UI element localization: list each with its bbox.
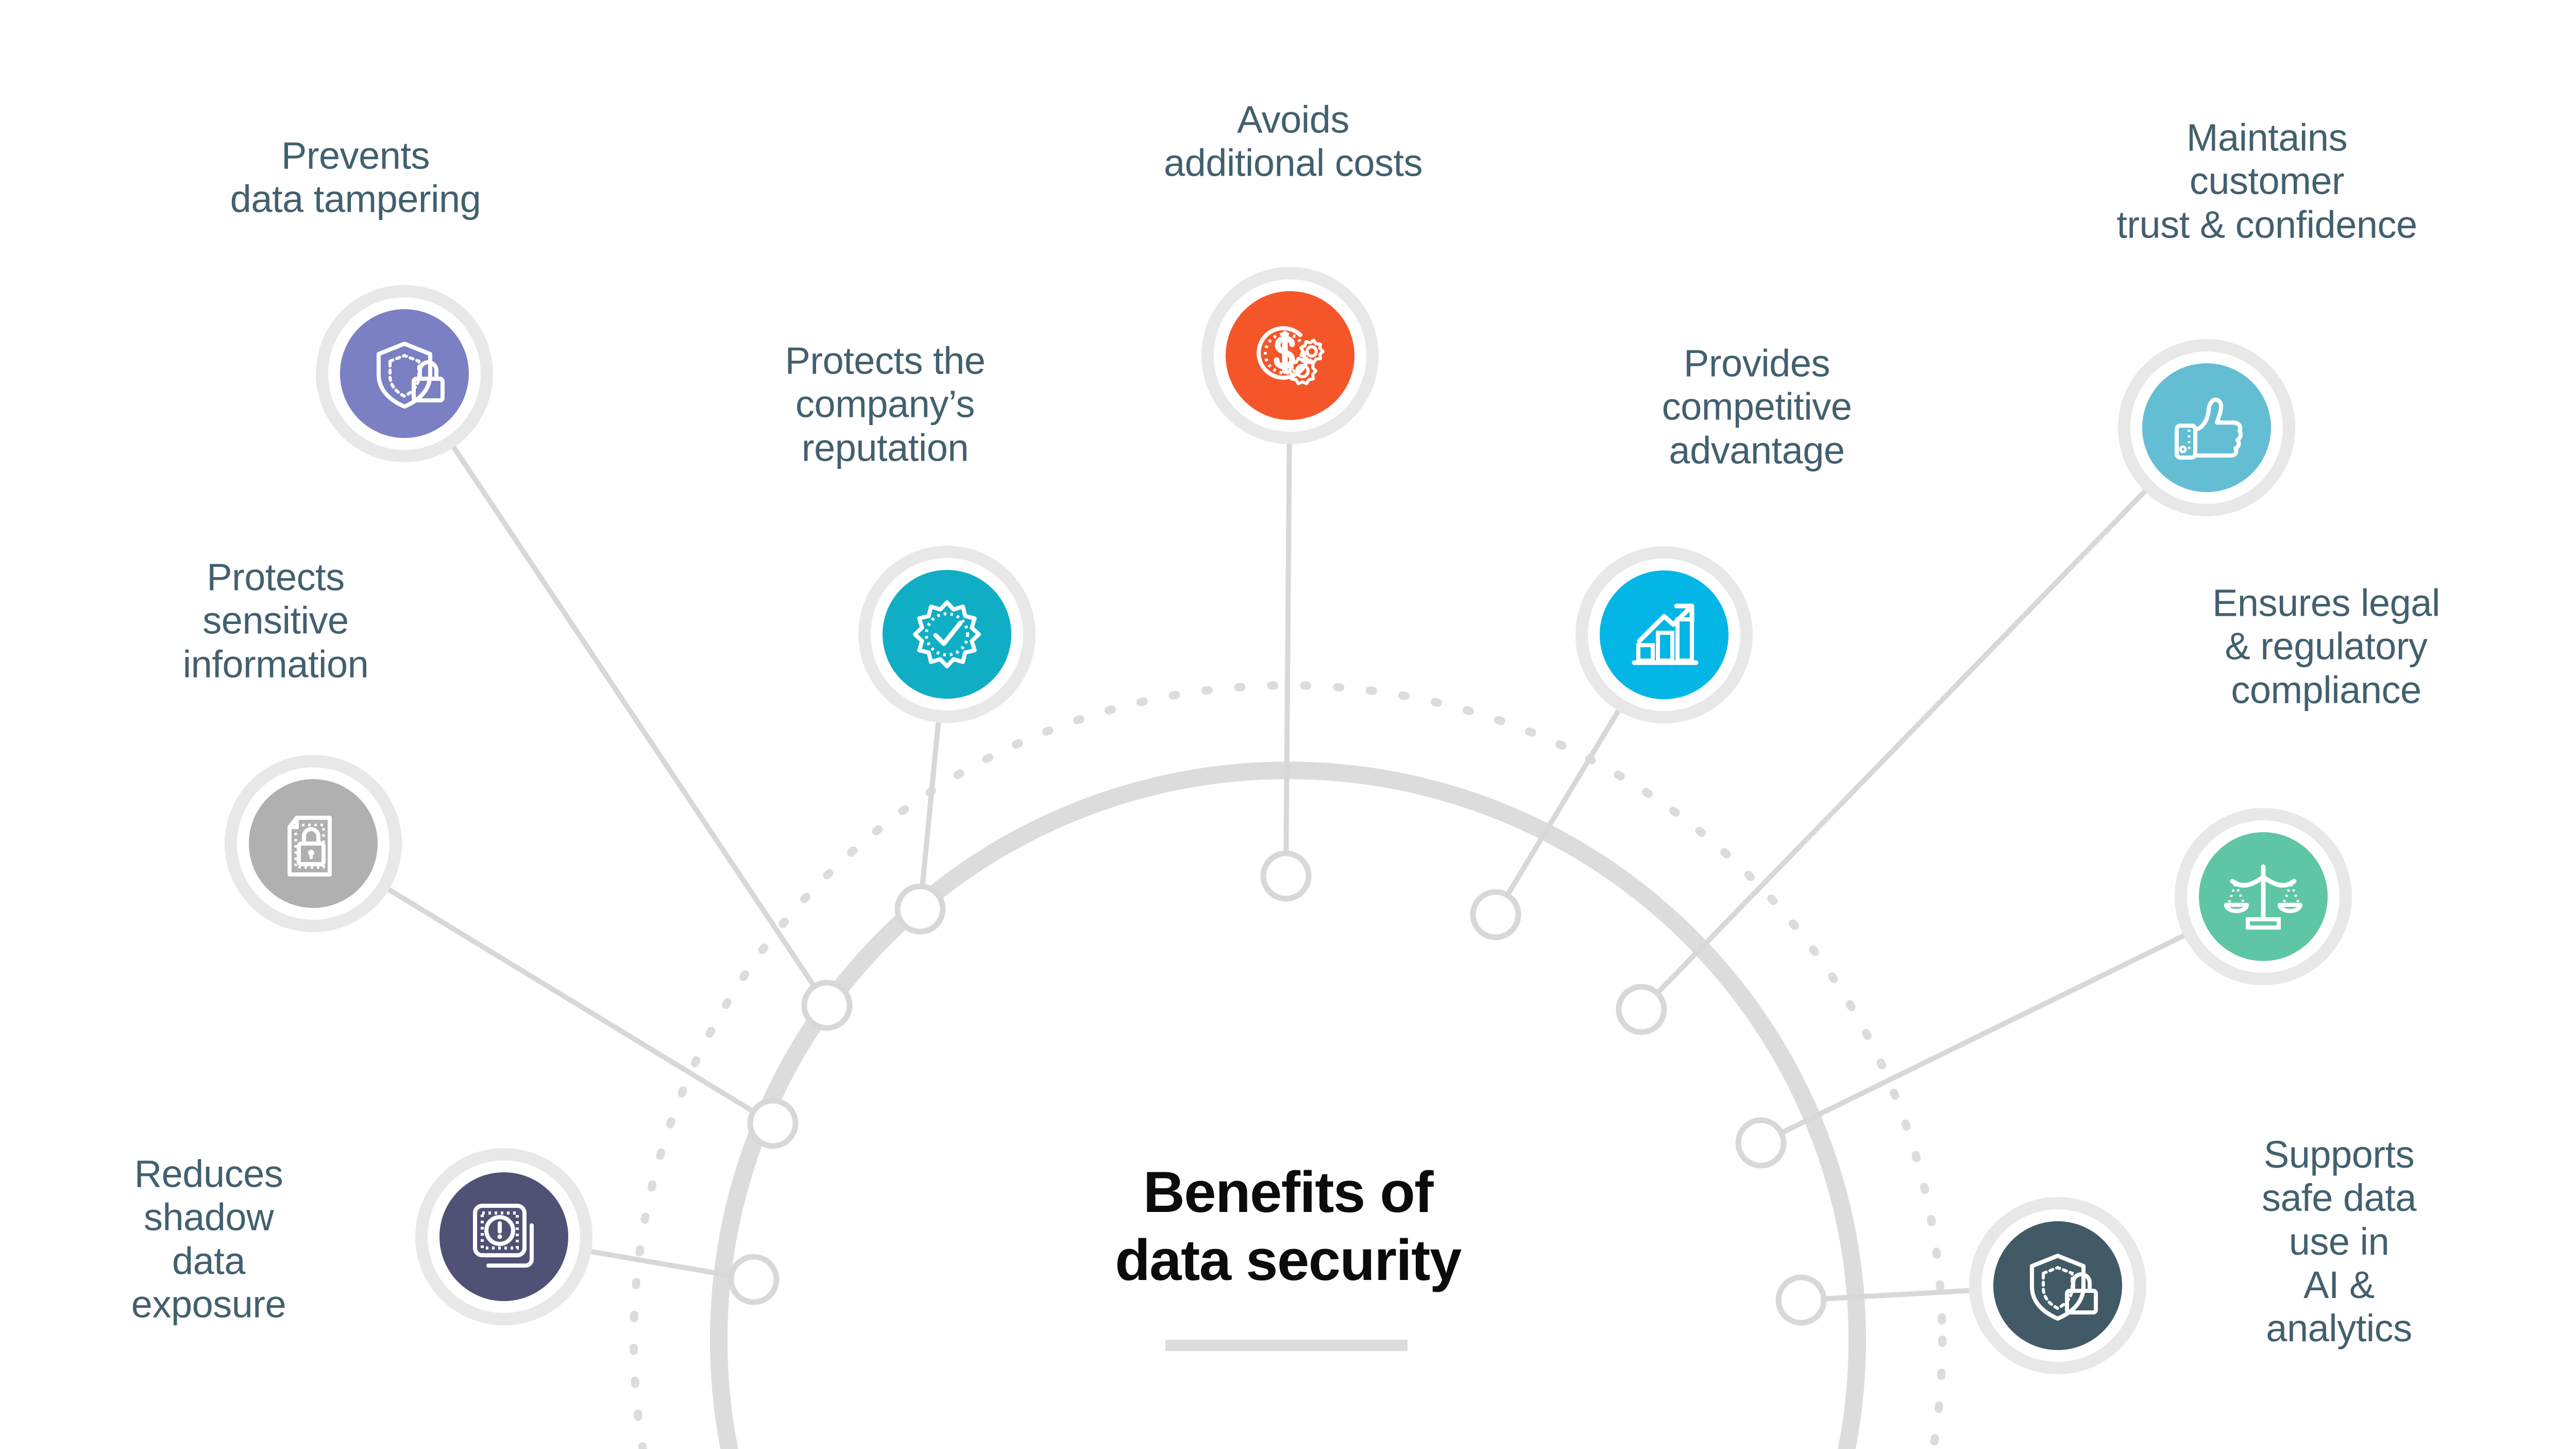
- label-supports-safe-data-ai: Supports safe data use in AI & analytics: [2262, 1133, 2416, 1351]
- label-reduces-shadow-data-exposure: Reduces shadow data exposure: [131, 1152, 286, 1326]
- arc-node-provides-competitive-advantage[interactable]: [1473, 892, 1518, 937]
- label-maintains-customer-trust: Maintains customer trust & confidence: [2116, 116, 2417, 246]
- icon-bubble-supports-safe-data-ai[interactable]: [1969, 1197, 2146, 1374]
- icon-bubble-prevents-data-tampering[interactable]: [316, 285, 493, 462]
- connector-line-protects-sensitive-information: [388, 889, 752, 1110]
- bubble-colour-disc: [340, 309, 469, 438]
- bubble-colour-disc: [439, 1172, 568, 1301]
- arc-node-avoids-additional-costs[interactable]: [1263, 853, 1309, 899]
- icon-bubble-protects-sensitive-information[interactable]: [225, 755, 402, 932]
- label-protects-company-reputation: Protects the company’s reputation: [785, 339, 986, 469]
- arc-node-supports-safe-data-ai[interactable]: [1778, 1277, 1824, 1323]
- connector-line-maintains-customer-trust: [1658, 491, 2145, 992]
- label-ensures-legal-compliance: Ensures legal & regulatory compliance: [2212, 581, 2440, 712]
- icon-bubble-provides-competitive-advantage[interactable]: [1575, 546, 1753, 723]
- infographic-canvas: Benefits of data security Prevents data …: [0, 0, 2576, 1449]
- arc-node-protects-sensitive-information[interactable]: [750, 1101, 795, 1146]
- label-avoids-additional-costs: Avoids additional costs: [1164, 98, 1422, 186]
- bubble-colour-disc: [2142, 363, 2271, 492]
- center-title: Benefits of data security: [1115, 1158, 1461, 1294]
- icon-bubble-ensures-legal-compliance[interactable]: [2175, 808, 2352, 985]
- bubble-colour-disc: [883, 570, 1011, 699]
- connector-line-ensures-legal-compliance: [1783, 935, 2184, 1132]
- icon-bubble-reduces-shadow-data-exposure[interactable]: [415, 1148, 592, 1325]
- arc-node-protects-company-reputation[interactable]: [897, 886, 943, 932]
- connector-line-prevents-data-tampering: [453, 447, 813, 985]
- arc-node-reduces-shadow-data-exposure[interactable]: [731, 1257, 776, 1302]
- arc-node-ensures-legal-compliance[interactable]: [1738, 1120, 1784, 1166]
- connector-line-reduces-shadow-data-exposure: [591, 1252, 730, 1275]
- icon-bubble-avoids-additional-costs[interactable]: [1201, 267, 1379, 444]
- icon-bubble-maintains-customer-trust[interactable]: [2118, 339, 2295, 516]
- label-provides-competitive-advantage: Provides competitive advantage: [1662, 342, 1852, 472]
- icon-bubble-protects-company-reputation[interactable]: [858, 546, 1036, 723]
- connector-line-avoids-additional-costs: [1286, 444, 1289, 851]
- label-prevents-data-tampering: Prevents data tampering: [230, 134, 481, 222]
- bubble-colour-disc: [1993, 1221, 2122, 1350]
- label-protects-sensitive-information: Protects sensitive information: [183, 555, 369, 686]
- connector-line-protects-company-reputation: [923, 722, 939, 884]
- arc-node-prevents-data-tampering[interactable]: [804, 983, 850, 1028]
- arc-node-maintains-customer-trust[interactable]: [1619, 987, 1664, 1032]
